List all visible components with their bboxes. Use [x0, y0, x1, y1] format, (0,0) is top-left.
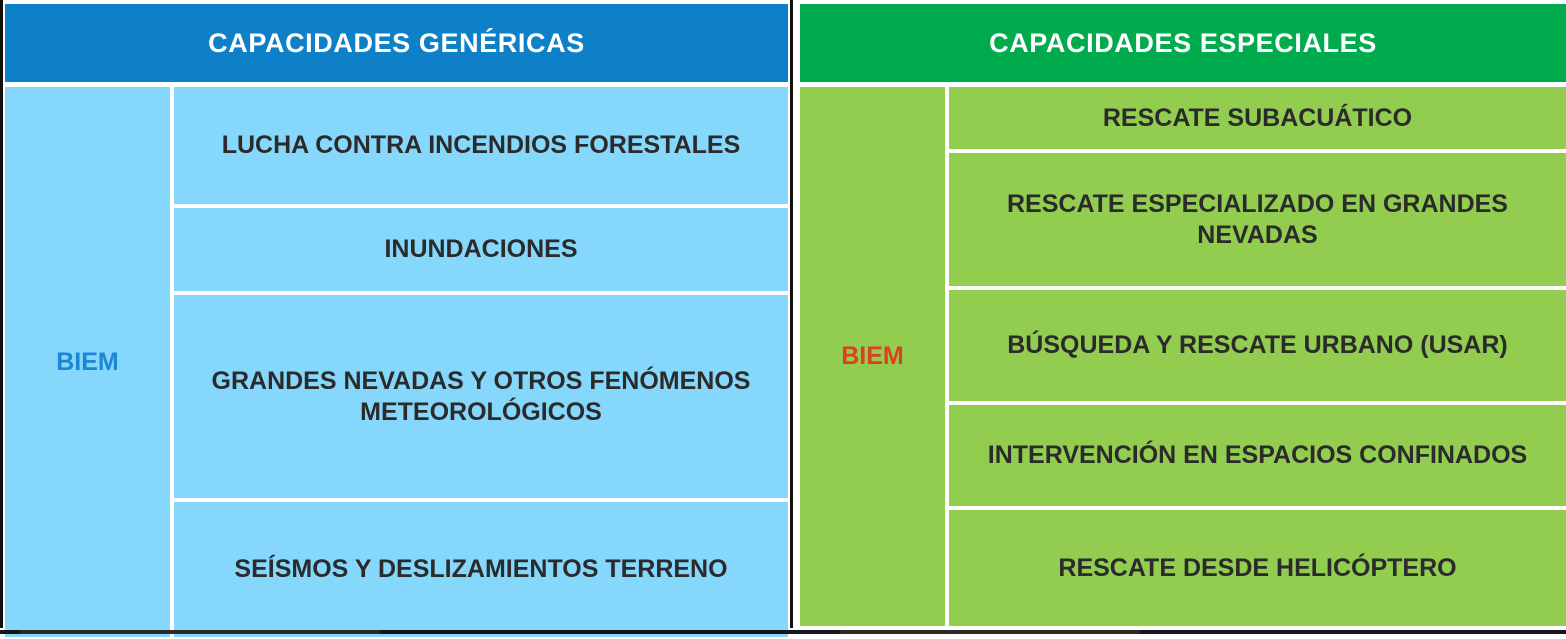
table-capacidades-genericas: CAPACIDADES GENÉRICAS BIEM LUCHA CONTRA … — [0, 0, 793, 628]
table-row: GRANDES NEVADAS Y OTROS FENÓMENOS METEOR… — [174, 295, 788, 498]
table-row: LUCHA CONTRA INCENDIOS FORESTALES — [174, 87, 788, 204]
table-row: INUNDACIONES — [174, 208, 788, 291]
table-header-capacidades-especiales: CAPACIDADES ESPECIALES — [800, 4, 1566, 82]
table-body-capacidades-genericas: BIEM LUCHA CONTRA INCENDIOS FORESTALES I… — [3, 82, 790, 639]
capability-column-especiales: RESCATE SUBACUÁTICO RESCATE ESPECIALIZAD… — [949, 87, 1566, 626]
table-row: INTERVENCIÓN EN ESPACIOS CONFINADOS — [949, 405, 1566, 506]
org-cell-biem-especiales: BIEM — [800, 87, 945, 626]
table-row: BÚSQUEDA Y RESCATE URBANO (USAR) — [949, 290, 1566, 401]
table-header-capacidades-genericas: CAPACIDADES GENÉRICAS — [5, 4, 788, 82]
bottom-edge-segment-left — [20, 630, 380, 634]
capability-column-genericas: LUCHA CONTRA INCENDIOS FORESTALES INUNDA… — [174, 87, 788, 637]
table-row: RESCATE SUBACUÁTICO — [949, 87, 1566, 149]
org-cell-biem-genericas: BIEM — [5, 87, 170, 637]
table-body-capacidades-especiales: BIEM RESCATE SUBACUÁTICO RESCATE ESPECIA… — [800, 82, 1566, 628]
bottom-edge-strip — [0, 630, 1566, 634]
table-row: RESCATE ESPECIALIZADO EN GRANDES NEVADAS — [949, 153, 1566, 286]
capacidades-slide: CAPACIDADES GENÉRICAS BIEM LUCHA CONTRA … — [0, 0, 1566, 634]
table-capacidades-especiales: CAPACIDADES ESPECIALES BIEM RESCATE SUBA… — [800, 0, 1566, 628]
bottom-edge-segment-right — [840, 630, 1140, 634]
table-row: SEÍSMOS Y DESLIZAMIENTOS TERRENO — [174, 502, 788, 637]
table-row: RESCATE DESDE HELICÓPTERO — [949, 510, 1566, 626]
